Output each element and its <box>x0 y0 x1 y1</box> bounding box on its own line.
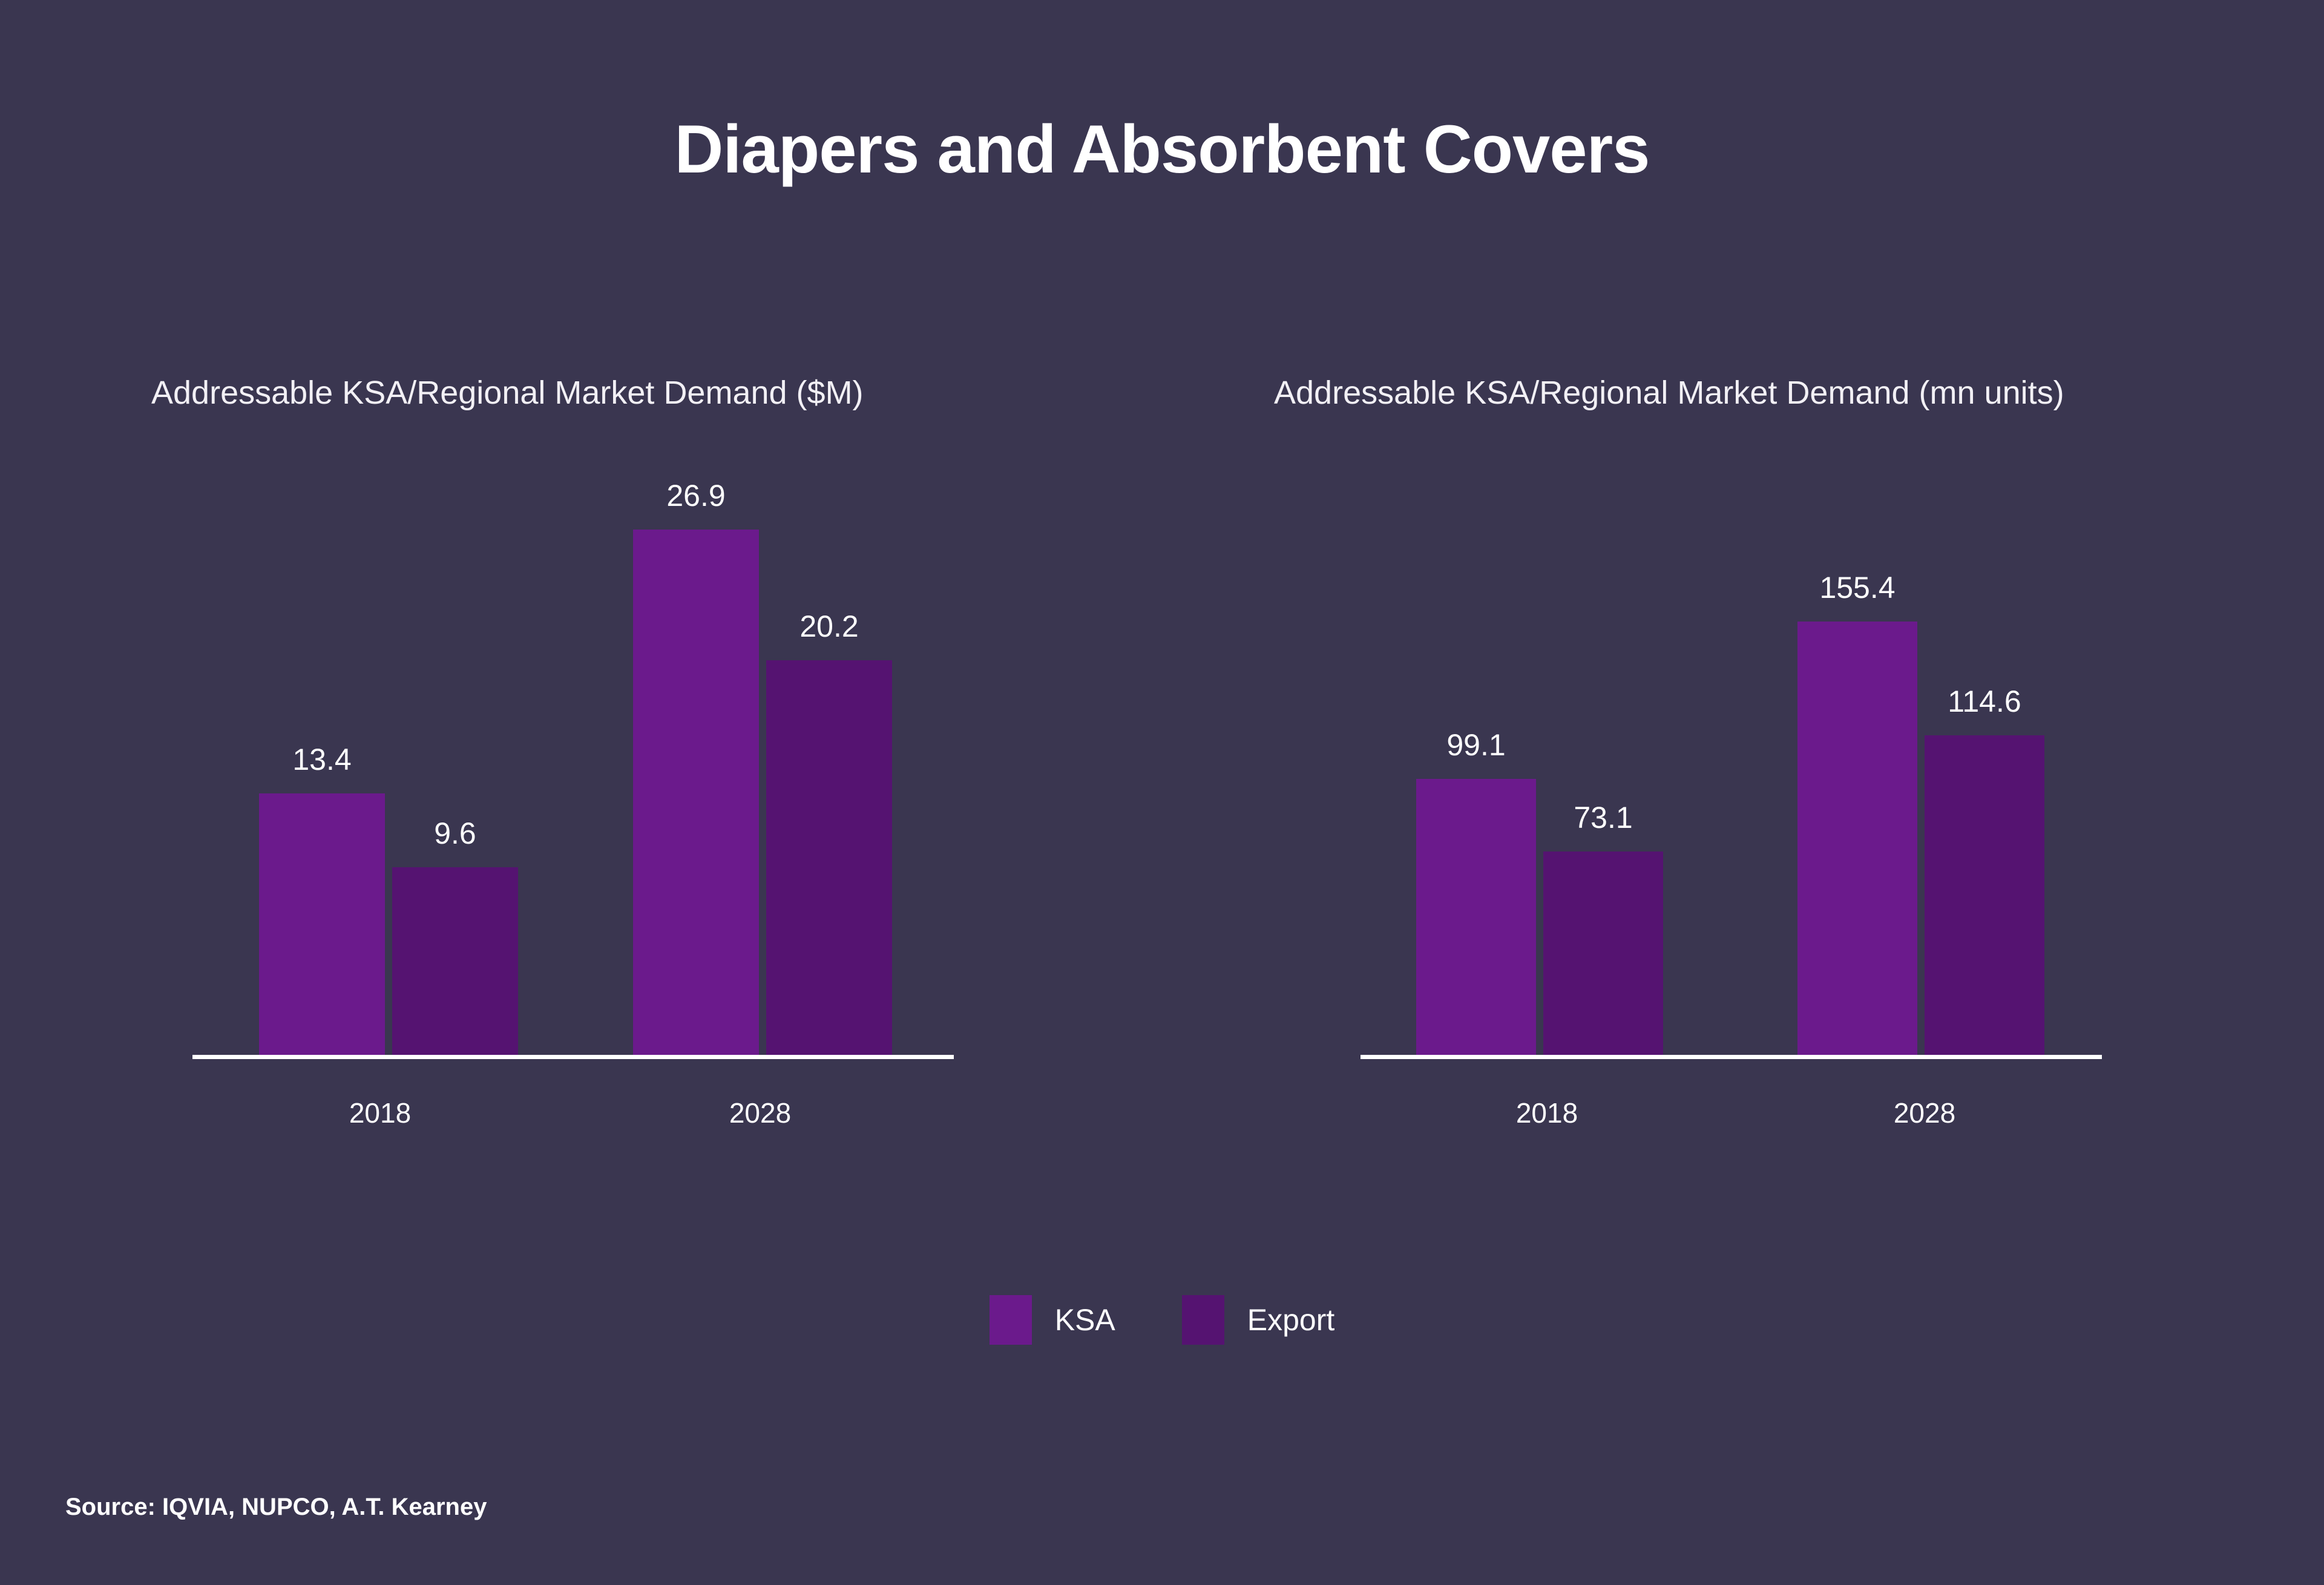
chart-legend: KSA Export <box>0 1295 2324 1345</box>
bar-value-ksa-2028[interactable] <box>633 530 759 1055</box>
chart-panel-units: Addressable KSA/Regional Market Demand (… <box>1274 375 2170 411</box>
bar-value-export-2028[interactable] <box>766 660 892 1055</box>
bar-units-export-2018[interactable] <box>1543 852 1663 1055</box>
bar-label-value-export-2018: 9.6 <box>392 818 518 848</box>
plot-area-value: 13.4 9.6 26.9 20.2 <box>151 460 956 1059</box>
chart-panel-value: Addressable KSA/Regional Market Demand (… <box>151 375 1047 411</box>
bar-label-units-export-2028: 114.6 <box>1925 686 2044 717</box>
chart-subtitle-value: Addressable KSA/Regional Market Demand (… <box>151 375 1047 411</box>
legend-item-ksa[interactable]: KSA <box>990 1295 1115 1345</box>
bar-label-value-ksa-2018: 13.4 <box>259 744 385 775</box>
bar-label-value-ksa-2028: 26.9 <box>633 481 759 511</box>
legend-label-export: Export <box>1247 1305 1335 1335</box>
legend-swatch-export-icon <box>1182 1295 1224 1345</box>
bar-units-ksa-2018[interactable] <box>1416 779 1536 1055</box>
tick-units-2018: 2018 <box>1492 1097 1601 1129</box>
tick-value-2018: 2018 <box>326 1097 435 1129</box>
bar-units-export-2028[interactable] <box>1925 735 2044 1055</box>
legend-label-ksa: KSA <box>1055 1305 1115 1335</box>
bar-value-export-2018[interactable] <box>392 867 518 1055</box>
legend-swatch-ksa-icon <box>990 1295 1032 1345</box>
legend-item-export[interactable]: Export <box>1182 1295 1335 1345</box>
bar-label-units-ksa-2018: 99.1 <box>1416 730 1536 760</box>
chart-subtitle-units: Addressable KSA/Regional Market Demand (… <box>1274 375 2170 411</box>
bar-label-value-export-2028: 20.2 <box>766 611 892 642</box>
tick-units-2028: 2028 <box>1870 1097 1979 1129</box>
bar-label-units-export-2018: 73.1 <box>1543 802 1663 833</box>
tick-value-2028: 2028 <box>706 1097 815 1129</box>
source-note: Source: IQVIA, NUPCO, A.T. Kearney <box>65 1494 487 1521</box>
x-axis-line-units <box>1361 1055 2102 1059</box>
x-tick-labels: 2018 2028 2018 2028 <box>0 1097 2324 1139</box>
bar-units-ksa-2028[interactable] <box>1797 622 1917 1055</box>
bar-value-ksa-2018[interactable] <box>259 793 385 1055</box>
bar-label-units-ksa-2028: 155.4 <box>1797 573 1917 603</box>
page-title: Diapers and Absorbent Covers <box>0 114 2324 185</box>
x-axis-line-value <box>192 1055 954 1059</box>
plot-area-units: 99.1 73.1 155.4 114.6 <box>1319 460 2124 1059</box>
